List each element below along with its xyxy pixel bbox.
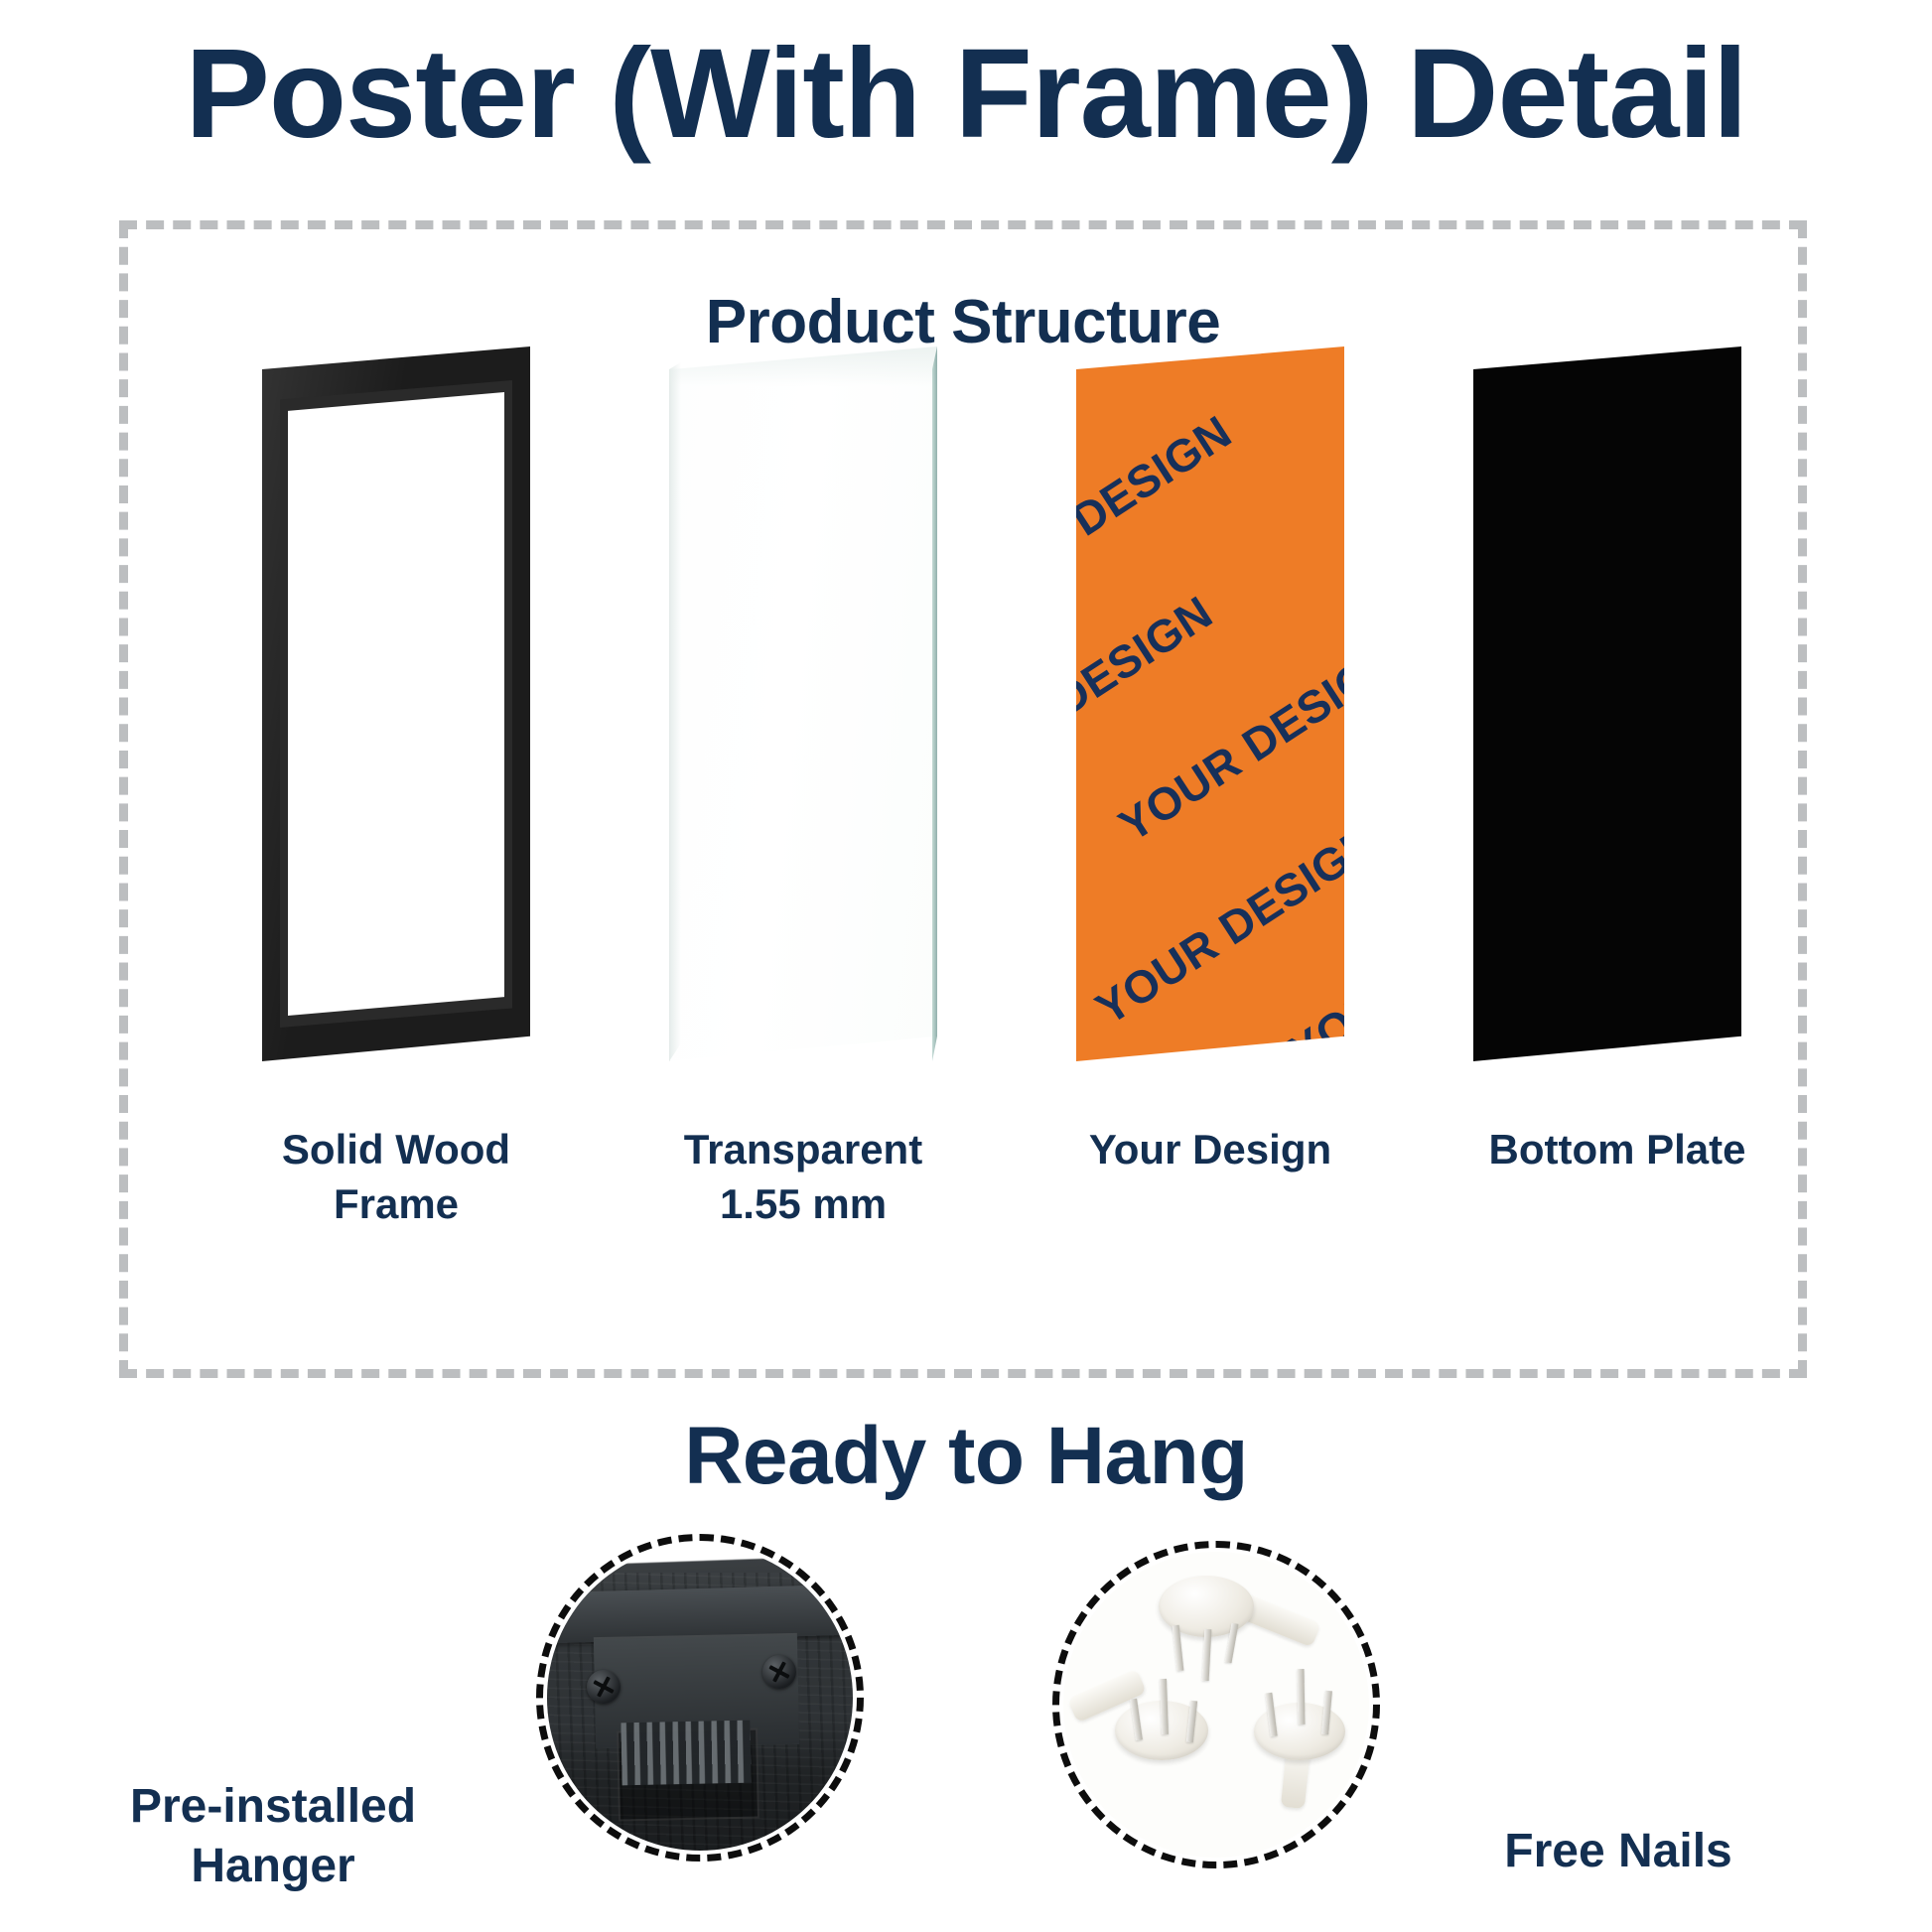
plate-illustration xyxy=(1473,346,1741,1061)
caption-transparent-sheet: Transparent 1.55 mm xyxy=(595,1123,1012,1231)
caption-line: Hanger xyxy=(55,1837,491,1896)
product-structure-panel: Product Structure YOUR xyxy=(119,220,1807,1378)
caption-line: Bottom Plate xyxy=(1409,1123,1826,1177)
caption-your-design: Your Design xyxy=(1002,1123,1419,1177)
design-face: YOUR DESIGN YOUR DESIGN YOUR DESIGN YOUR… xyxy=(1076,346,1344,1061)
part-your-design: YOUR DESIGN YOUR DESIGN YOUR DESIGN YOUR… xyxy=(1076,346,1344,1061)
caption-line: Pre-installed xyxy=(55,1777,491,1837)
nail-pin xyxy=(1160,1679,1169,1734)
ready-to-hang-heading: Ready to Hang xyxy=(0,1410,1932,1503)
glass-top-highlight xyxy=(669,346,937,386)
glass-illustration xyxy=(669,346,937,1061)
caption-line: Free Nails xyxy=(1400,1822,1837,1881)
frame-illustration xyxy=(262,346,530,1061)
part-solid-wood-frame xyxy=(262,346,530,1061)
caption-line: Your Design xyxy=(1002,1123,1419,1177)
caption-line: 1.55 mm xyxy=(595,1177,1012,1232)
part-bottom-plate xyxy=(1473,346,1741,1061)
screw-icon xyxy=(587,1670,621,1704)
nail-pin xyxy=(1202,1629,1212,1681)
nail-pin xyxy=(1298,1669,1306,1725)
pre-installed-hanger-photo xyxy=(536,1534,864,1862)
hanger-photo-inner xyxy=(547,1545,853,1851)
design-illustration: YOUR DESIGN YOUR DESIGN YOUR DESIGN YOUR… xyxy=(1076,346,1344,1061)
caption-free-nails: Free Nails xyxy=(1400,1822,1837,1881)
caption-bottom-plate: Bottom Plate xyxy=(1409,1123,1826,1177)
caption-line: Frame xyxy=(188,1177,605,1232)
design-watermark-group: YOUR DESIGN YOUR DESIGN YOUR DESIGN YOUR… xyxy=(1076,346,1344,1061)
nails-scene xyxy=(1063,1552,1369,1858)
nails-photo-inner xyxy=(1063,1552,1369,1858)
part-transparent-sheet xyxy=(669,346,937,1061)
glass-face xyxy=(669,346,937,1061)
hanger-frame-back-surface xyxy=(547,1545,853,1851)
exploded-parts-row: YOUR DESIGN YOUR DESIGN YOUR DESIGN YOUR… xyxy=(128,346,1798,1101)
caption-line: Solid Wood xyxy=(188,1123,605,1177)
caption-solid-wood-frame: Solid Wood Frame xyxy=(188,1123,605,1231)
caption-line: Transparent xyxy=(595,1123,1012,1177)
glass-thickness-edge xyxy=(932,346,937,1061)
page-title: Poster (With Frame) Detail xyxy=(0,28,1932,161)
screw-icon xyxy=(762,1655,796,1689)
glass-left-highlight xyxy=(669,346,681,1061)
free-nails-photo xyxy=(1052,1541,1380,1868)
caption-pre-installed-hanger: Pre-installed Hanger xyxy=(55,1777,491,1896)
plate-face xyxy=(1473,346,1741,1061)
sawtooth-teeth xyxy=(621,1720,752,1785)
frame-window-opening xyxy=(288,392,504,1016)
